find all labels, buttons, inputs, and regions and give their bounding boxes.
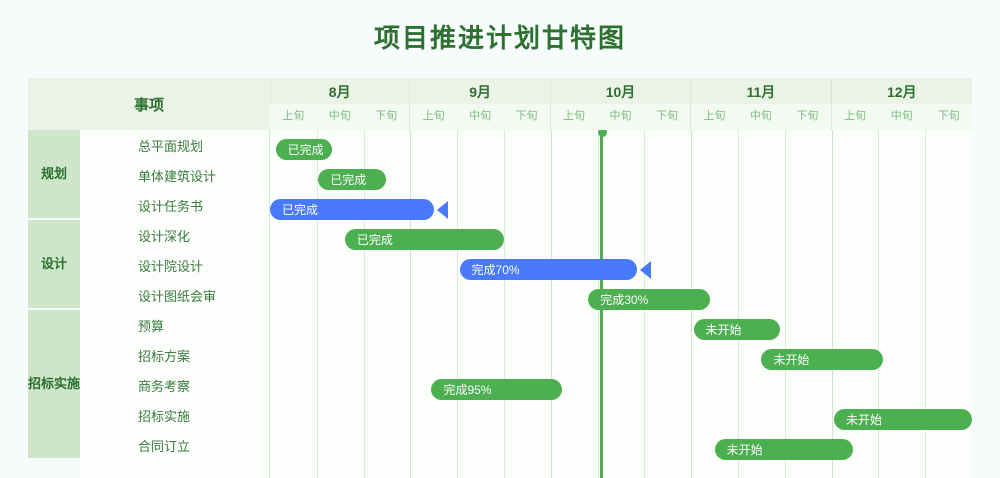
period-label-2: 中旬 [597, 104, 643, 130]
period-label-3: 下旬 [503, 104, 549, 130]
task-name-cell: 设计院设计 [80, 250, 270, 280]
chart-body: 规划设计招标实施 总平面规划单体建筑设计设计任务书设计深化设计院设计设计图纸会审… [28, 130, 972, 478]
category-label: 设计 [41, 256, 67, 272]
period-gridline [504, 130, 505, 478]
category-label-line: 招标 [28, 376, 54, 392]
task-name-label: 招标方案 [138, 346, 190, 365]
period-label-row: 上旬中旬下旬 [270, 104, 409, 130]
month-label: 12月 [832, 78, 972, 104]
task-name-cell: 招标方案 [80, 340, 270, 370]
current-task-marker-icon [640, 261, 651, 279]
task-name-label: 设计院设计 [138, 256, 203, 275]
period-label-2: 中旬 [457, 104, 503, 130]
gantt-bar-label: 已完成 [282, 201, 318, 218]
task-name-label: 设计任务书 [138, 196, 203, 215]
gantt-bar-label: 完成95% [443, 381, 491, 398]
task-name-cell: 设计深化 [80, 220, 270, 250]
month-header-row: 8月上旬中旬下旬9月上旬中旬下旬10月上旬中旬下旬11月上旬中旬下旬12月上旬中… [270, 78, 972, 130]
header-item-label: 事项 [28, 78, 271, 130]
gantt-bar-label: 未开始 [727, 441, 763, 458]
period-label-1: 上旬 [410, 104, 456, 130]
period-label-3: 下旬 [644, 104, 690, 130]
gantt-bar-label: 完成30% [600, 291, 648, 308]
period-label-row: 上旬中旬下旬 [691, 104, 830, 130]
category-cell: 规划 [28, 130, 80, 220]
gantt-bar-label: 未开始 [846, 411, 882, 428]
current-task-marker-icon [437, 201, 448, 219]
gantt-bar[interactable]: 已完成 [318, 169, 386, 190]
period-label-2: 中旬 [316, 104, 362, 130]
gantt-chart-page: 项目推进计划甘特图 事项 8月上旬中旬下旬9月上旬中旬下旬10月上旬中旬下旬11… [0, 0, 1000, 478]
gantt-bar[interactable]: 未开始 [715, 439, 853, 460]
month-header-3: 10月上旬中旬下旬 [551, 78, 691, 130]
period-label-1: 上旬 [551, 104, 597, 130]
gantt-bar[interactable]: 未开始 [834, 409, 972, 430]
period-label-2: 中旬 [738, 104, 784, 130]
month-header-2: 9月上旬中旬下旬 [410, 78, 550, 130]
gantt-bar[interactable]: 已完成 [276, 139, 333, 160]
gantt-bar[interactable]: 完成95% [431, 379, 562, 400]
gantt-bar-label: 完成70% [472, 261, 520, 278]
month-label: 11月 [691, 78, 830, 104]
gantt-bar[interactable]: 已完成 [270, 199, 434, 220]
month-header-4: 11月上旬中旬下旬 [691, 78, 831, 130]
task-name-cell: 总平面规划 [80, 130, 270, 160]
gantt-bar-label: 已完成 [288, 141, 324, 158]
task-name-label: 总平面规划 [138, 136, 203, 155]
period-label-3: 下旬 [784, 104, 830, 130]
category-cell: 设计 [28, 220, 80, 310]
task-name-label: 预算 [138, 316, 164, 335]
task-name-label: 设计深化 [138, 226, 190, 245]
task-name-label: 设计图纸会审 [138, 286, 216, 305]
task-name-cell: 合同订立 [80, 430, 270, 460]
gantt-bar[interactable]: 未开始 [761, 349, 883, 370]
period-gridline [457, 130, 458, 478]
task-name-cell: 设计任务书 [80, 190, 270, 220]
gantt-bar[interactable]: 完成70% [460, 259, 638, 280]
gantt-bar[interactable]: 完成30% [588, 289, 710, 310]
month-gridline [832, 130, 833, 478]
task-name-column: 总平面规划单体建筑设计设计任务书设计深化设计院设计设计图纸会审预算招标方案商务考… [80, 130, 270, 478]
period-label-1: 上旬 [270, 104, 316, 130]
today-marker-dot [598, 130, 607, 137]
gantt-bar-label: 已完成 [330, 171, 366, 188]
task-name-label: 合同订立 [138, 436, 190, 455]
category-cell: 招标实施 [28, 310, 80, 460]
category-label: 规划 [41, 166, 67, 182]
task-name-label: 单体建筑设计 [138, 166, 216, 185]
period-label-row: 上旬中旬下旬 [551, 104, 690, 130]
period-gridline [785, 130, 786, 478]
task-name-cell: 招标实施 [80, 400, 270, 430]
period-label-3: 下旬 [363, 104, 409, 130]
period-label-row: 上旬中旬下旬 [410, 104, 549, 130]
gantt-plot-area: 已完成已完成已完成已完成完成70%完成30%未开始未开始完成95%未开始未开始 [270, 130, 972, 478]
period-label-3: 下旬 [925, 104, 972, 130]
month-header-1: 8月上旬中旬下旬 [270, 78, 410, 130]
period-label-2: 中旬 [878, 104, 925, 130]
gantt-bar[interactable]: 未开始 [694, 319, 781, 340]
gantt-bar-label: 已完成 [357, 231, 393, 248]
gantt-chart: 事项 8月上旬中旬下旬9月上旬中旬下旬10月上旬中旬下旬11月上旬中旬下旬12月… [28, 78, 972, 478]
gantt-bar-label: 未开始 [706, 321, 742, 338]
chart-header: 事项 8月上旬中旬下旬9月上旬中旬下旬10月上旬中旬下旬11月上旬中旬下旬12月… [28, 78, 972, 130]
month-label: 9月 [410, 78, 549, 104]
gantt-bar-label: 未开始 [773, 351, 809, 368]
category-label-line: 实施 [54, 376, 80, 392]
task-name-cell: 预算 [80, 310, 270, 340]
month-label: 8月 [270, 78, 409, 104]
month-gridline [551, 130, 552, 478]
month-header-5: 12月上旬中旬下旬 [832, 78, 972, 130]
period-gridline [738, 130, 739, 478]
period-label-1: 上旬 [832, 104, 879, 130]
month-label: 10月 [551, 78, 690, 104]
task-name-cell: 设计图纸会审 [80, 280, 270, 310]
gantt-bar[interactable]: 已完成 [345, 229, 504, 250]
task-name-cell: 商务考察 [80, 370, 270, 400]
category-column: 规划设计招标实施 [28, 130, 80, 478]
page-title: 项目推进计划甘特图 [0, 18, 1000, 55]
period-label-1: 上旬 [691, 104, 737, 130]
task-name-label: 招标实施 [138, 406, 190, 425]
month-gridline [410, 130, 411, 478]
period-label-row: 上旬中旬下旬 [832, 104, 972, 130]
task-name-label: 商务考察 [138, 376, 190, 395]
task-name-cell: 单体建筑设计 [80, 160, 270, 190]
